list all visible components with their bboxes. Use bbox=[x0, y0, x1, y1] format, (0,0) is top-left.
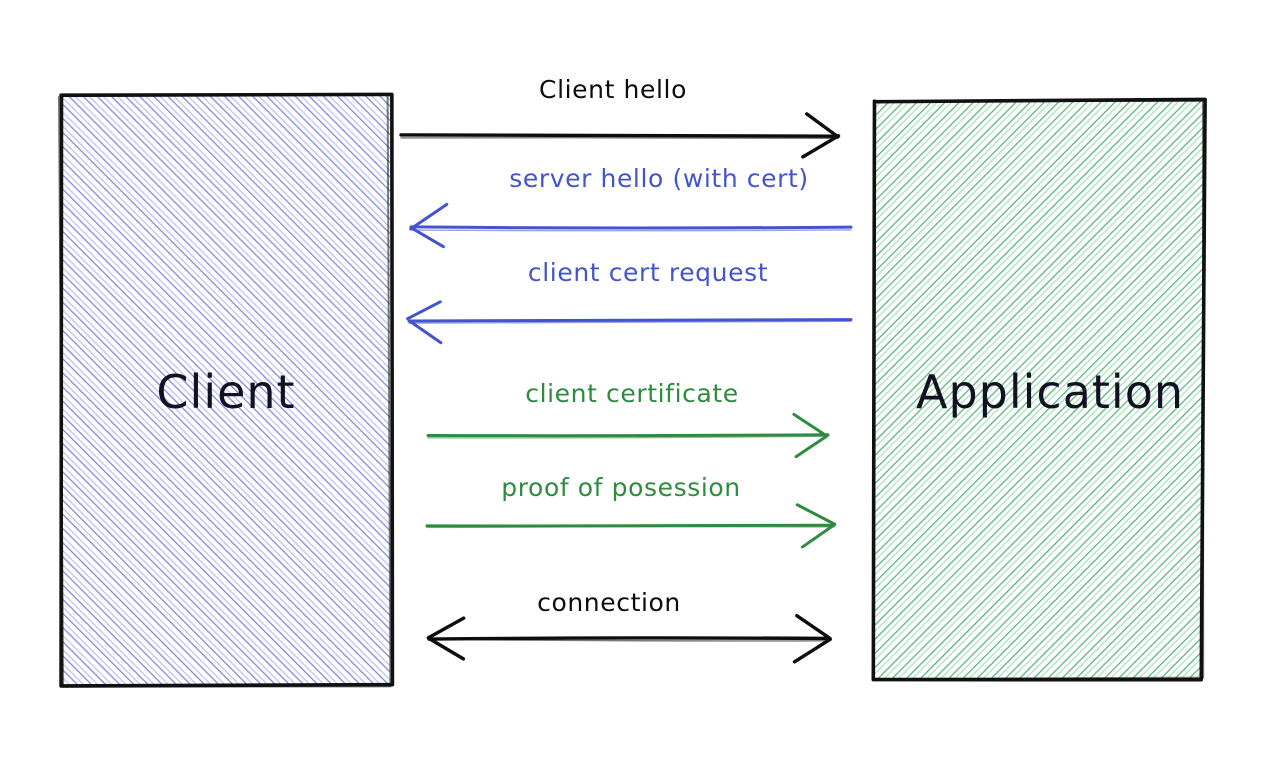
message-label-proof-of-posession: proof of posession bbox=[501, 473, 741, 502]
arrow-head-stroke bbox=[429, 639, 463, 659]
arrow-head-stroke bbox=[410, 321, 441, 342]
arrow-head-stroke bbox=[794, 414, 827, 436]
message-arrow-server-hello[interactable] bbox=[411, 204, 851, 246]
message-arrow-connection[interactable] bbox=[428, 616, 830, 662]
node-title-client: Client bbox=[156, 365, 295, 419]
arrow-head-stroke bbox=[795, 639, 831, 661]
arrow-head-stroke bbox=[807, 114, 838, 137]
message-label-connection: connection bbox=[537, 588, 681, 617]
node-title-application: Application bbox=[916, 365, 1184, 419]
message-arrow-proof-of-posession[interactable] bbox=[427, 505, 835, 547]
arrow-head-stroke bbox=[802, 525, 834, 547]
arrow-shaft bbox=[427, 527, 834, 528]
message-arrow-client-cert-request[interactable] bbox=[408, 302, 851, 343]
message-label-client-cert-request: client cert request bbox=[528, 258, 768, 287]
diagram-canvas: ClientApplication Client helloserver hel… bbox=[0, 0, 1268, 766]
arrow-shaft bbox=[428, 435, 828, 436]
message-label-client-certificate: client certificate bbox=[525, 379, 739, 408]
arrow-shaft bbox=[411, 227, 851, 228]
arrow-head-stroke bbox=[797, 505, 835, 524]
message-arrow-client-certificate[interactable] bbox=[428, 414, 828, 456]
arrow-head-stroke bbox=[411, 204, 447, 229]
message-label-client-hello: Client hello bbox=[539, 75, 687, 104]
arrow-head-stroke bbox=[797, 616, 829, 638]
arrow-head-stroke bbox=[428, 618, 463, 638]
arrow-shaft bbox=[429, 638, 830, 639]
arrow-shaft bbox=[401, 138, 838, 139]
arrow-shaft bbox=[427, 525, 834, 526]
message-label-server-hello: server hello (with cert) bbox=[509, 164, 809, 193]
arrow-shaft bbox=[411, 230, 851, 231]
arrow-shaft bbox=[401, 135, 838, 136]
arrow-shaft bbox=[409, 320, 851, 321]
message-arrow-client-hello[interactable] bbox=[401, 114, 839, 157]
arrow-head-stroke bbox=[796, 436, 827, 457]
arrow-head-stroke bbox=[408, 302, 441, 319]
